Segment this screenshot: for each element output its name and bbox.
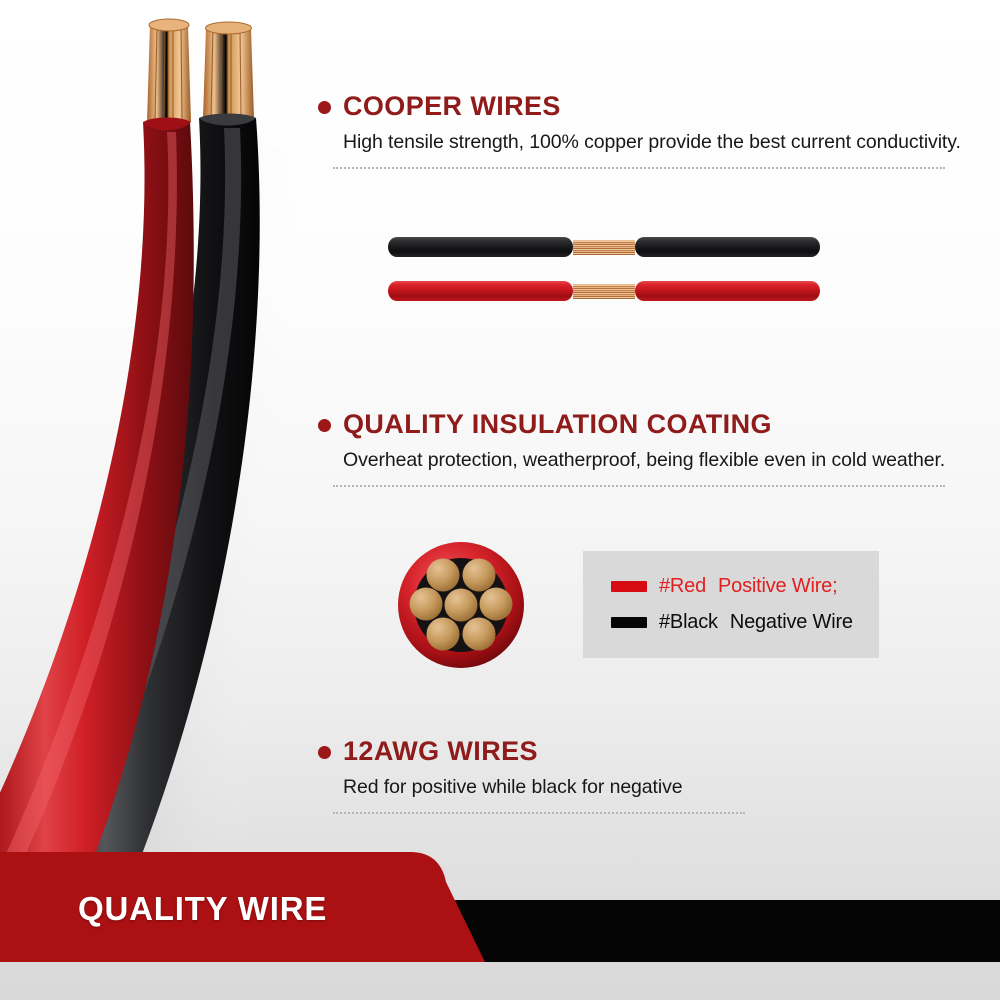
- black-wire-exposed-copper-icon: [573, 240, 635, 255]
- red-wire-copper-strands: [147, 19, 191, 122]
- black-wire-highlight: [60, 128, 241, 860]
- stripped-wire-comparison: [388, 236, 820, 308]
- red-jacket-left: [388, 281, 573, 301]
- feature-block-12awg-wires: 12AWG WIRES Red for positive while black…: [318, 737, 978, 814]
- feature-title: 12AWG WIRES: [343, 737, 538, 765]
- feature-block-cooper-wires: COOPER WIRES High tensile strength, 100%…: [318, 92, 978, 169]
- black-wire-swatch-icon: [611, 617, 647, 628]
- black-wire-copper-strands: [203, 22, 254, 118]
- two-wire-photo: [0, 0, 340, 880]
- feature-heading: COOPER WIRES: [318, 92, 978, 120]
- bullet-dot-icon: [318, 746, 331, 759]
- feature-divider: [333, 812, 745, 814]
- feature-description: High tensile strength, 100% copper provi…: [343, 129, 973, 156]
- wire-cross-section: [396, 540, 526, 670]
- feature-description: Overheat protection, weatherproof, being…: [343, 447, 973, 474]
- red-jacket-right: [635, 281, 820, 301]
- infographic-page: COOPER WIRES High tensile strength, 100%…: [0, 0, 1000, 1000]
- black-wire-jacket-lip: [199, 114, 256, 126]
- black-jacket-right: [635, 237, 820, 257]
- legend-row-black: #Black Negative Wire: [611, 604, 879, 640]
- legend-black-code: #Black: [659, 611, 718, 634]
- black-wire-sample: [388, 236, 820, 258]
- banner-title: QUALITY WIRE: [78, 890, 327, 928]
- bottom-banner: QUALITY WIRE: [0, 838, 1000, 962]
- legend-black-meaning: Negative Wire: [730, 611, 853, 634]
- feature-title: QUALITY INSULATION COATING: [343, 410, 772, 438]
- legend-red-code: #Red: [659, 575, 706, 598]
- feature-title: COOPER WIRES: [343, 92, 561, 120]
- red-wire-sample: [388, 280, 820, 302]
- red-wire-body: [0, 122, 194, 880]
- banner-black-band: [455, 900, 1000, 962]
- wire-shadow: [40, 120, 300, 880]
- bullet-dot-icon: [318, 101, 331, 114]
- red-wire-exposed-copper-icon: [573, 284, 635, 299]
- bullet-dot-icon: [318, 419, 331, 432]
- black-wire-body: [18, 118, 260, 880]
- feature-divider: [333, 167, 945, 169]
- red-wire-highlight: [6, 132, 177, 862]
- wire-polarity-legend: #Red Positive Wire; #Black Negative Wire: [583, 551, 879, 658]
- feature-divider: [333, 485, 945, 487]
- red-wire-swatch-icon: [611, 581, 647, 592]
- feature-description: Red for positive while black for negativ…: [343, 774, 973, 801]
- feature-heading: QUALITY INSULATION COATING: [318, 410, 978, 438]
- feature-block-quality-insulation-coating: QUALITY INSULATION COATING Overheat prot…: [318, 410, 978, 487]
- feature-heading: 12AWG WIRES: [318, 737, 978, 765]
- red-wire-jacket-lip: [143, 118, 191, 131]
- black-jacket-left: [388, 237, 573, 257]
- legend-row-red: #Red Positive Wire;: [611, 568, 879, 604]
- legend-red-meaning: Positive Wire;: [718, 575, 837, 598]
